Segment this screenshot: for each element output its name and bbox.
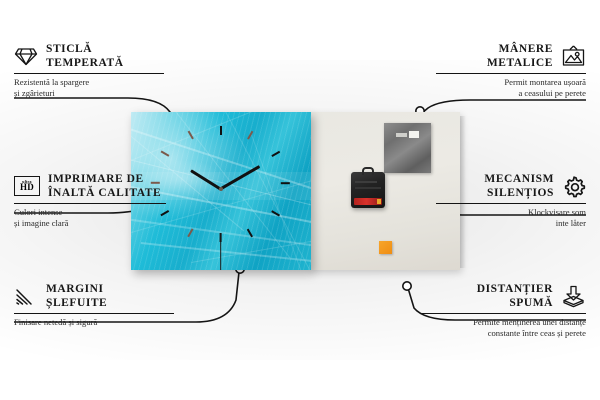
callout-desc: Klockvisare som [436, 207, 586, 218]
callout-title: DISTANȚIER [477, 282, 553, 296]
gear-icon [562, 175, 586, 198]
polished-edges-icon [14, 287, 38, 306]
infographic-canvas: STICLĂ TEMPERATĂ Rezistentă la spargere … [0, 0, 600, 400]
callout-desc-2: a ceasului pe perete [436, 88, 586, 99]
callout-divider [14, 73, 164, 74]
down-arrow-stack-icon [561, 285, 586, 308]
callout-polished-edges: MARGINI ȘLEFUITE Finisare netedă și sigu… [14, 282, 174, 328]
callout-high-quality-print: ultra HD IMPRIMARE DE ÎNALTĂ CALITATE Cu… [14, 172, 166, 230]
callout-divider [436, 73, 586, 74]
clock-mechanism [351, 172, 385, 208]
diamond-icon [14, 47, 38, 66]
callout-silent-mechanism: MECANISM SILENȚIOS Klockvisare som inte … [436, 172, 586, 230]
callout-desc-2: și zgârieturi [14, 88, 164, 99]
callout-desc: Finisare netedă și sigură [14, 317, 174, 328]
callout-title: MARGINI [46, 282, 107, 296]
callout-divider [420, 313, 586, 314]
callout-title-2: METALICE [487, 56, 553, 70]
battery [354, 198, 382, 205]
callout-title: IMPRIMARE DE [48, 172, 161, 186]
callout-desc: Rezistentă la spargere [14, 77, 164, 88]
callout-title-2: SILENȚIOS [484, 186, 554, 200]
badge-large-text: HD [20, 183, 34, 192]
callout-desc-2: constante între ceas și perete [420, 328, 586, 339]
callout-title-2: ÎNALTĂ CALITATE [48, 186, 161, 200]
callout-desc: Permite menținerea unei distanțe [420, 317, 586, 328]
callout-title-2: TEMPERATĂ [46, 56, 124, 70]
callout-desc: Permit montarea ușoară [436, 77, 586, 88]
callout-title-2: SPUMĂ [477, 296, 553, 310]
hanging-picture-icon [561, 45, 586, 67]
ultra-hd-badge-icon: ultra HD [14, 176, 40, 196]
callout-desc: Culori intense [14, 207, 166, 218]
product-image [131, 112, 460, 270]
callout-desc-2: inte låter [436, 218, 586, 229]
callout-title: STICLĂ [46, 42, 124, 56]
callout-foam-spacer: DISTANȚIER SPUMĂ Permite menținerea unei… [420, 282, 586, 340]
callout-divider [436, 203, 586, 204]
callout-metal-handles: MÂNERE METALICE Permit montarea ușoară a… [436, 42, 586, 100]
foam-spacer [379, 241, 392, 254]
callout-tempered-glass: STICLĂ TEMPERATĂ Rezistentă la spargere … [14, 42, 164, 100]
callout-desc-2: și imagine clară [14, 218, 166, 229]
callout-divider [14, 313, 174, 314]
callout-title: MECANISM [484, 172, 554, 186]
callout-divider [14, 203, 166, 204]
callout-title-2: ȘLEFUITE [46, 296, 107, 310]
callout-title: MÂNERE [487, 42, 553, 56]
metal-hanger-plate [384, 123, 431, 173]
